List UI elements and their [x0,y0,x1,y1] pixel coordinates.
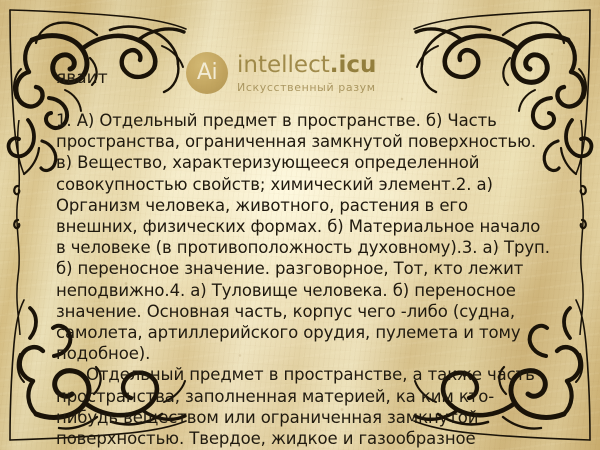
watermark-logo: Ai intellect.icu Искусственный разум [186,52,376,94]
watermark-brand-name: intellect [237,52,330,78]
slide-body-text: 1. А) Отдельный предмет в пространстве. … [56,110,551,449]
watermark-brand: intellect.icu [237,54,376,77]
watermark-text-group: intellect.icu Искусственный разум [237,54,376,93]
presentation-slide: Ai intellect.icu Искусственный разум ява… [0,0,600,450]
body-paragraph: 1. А) Отдельный предмет в пространстве. … [56,110,551,364]
page-title: яваит [56,68,108,89]
border-rule-right [574,120,590,339]
body-paragraph: Отдельный предмет в пространстве, а такж… [56,364,551,449]
watermark-badge-icon: Ai [186,52,228,94]
border-rule-left [10,120,26,339]
watermark-tagline: Искусственный разум [237,82,376,93]
watermark-brand-tld: .icu [330,52,377,78]
watermark-badge-letters: Ai [197,62,217,84]
